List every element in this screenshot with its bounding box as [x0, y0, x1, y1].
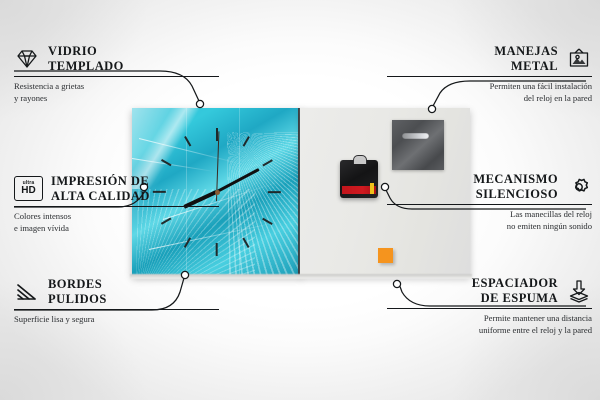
- callout-title-line-2: ALTA CALIDAD: [51, 189, 150, 204]
- hanger-slot: [402, 133, 429, 139]
- callout-vidrio-templado: VIDRIO TEMPLADO Resistencia a grietas y …: [14, 44, 219, 104]
- callout-title-line-2: SILENCIOSO: [473, 187, 558, 202]
- callout-description: Permite mantener una distancia uniforme …: [387, 313, 592, 335]
- callout-description: Permiten una fácil instalación del reloj…: [387, 81, 592, 103]
- movement-shaft: [353, 155, 367, 164]
- callout-rule: [14, 76, 219, 77]
- callout-description: Colores intensos e imagen vívida: [14, 211, 219, 233]
- callout-desc-line-2: no emiten ningún sonido: [387, 221, 592, 232]
- clock-tick-3: [217, 191, 281, 193]
- callout-desc-line-1: Superficie lisa y segura: [14, 314, 219, 325]
- clock-movement-mechanism: [340, 160, 378, 198]
- callout-title-line-1: ESPACIADOR: [472, 276, 558, 291]
- callout-rule: [14, 309, 219, 310]
- diamond-icon: [14, 47, 40, 71]
- callout-title-line-1: MECANISMO: [473, 172, 558, 187]
- callout-desc-line-2: y rayones: [14, 93, 219, 104]
- callout-description: Las manecillas del reloj no emiten ningú…: [387, 209, 592, 231]
- ultra-hd-icon: ultra HD: [14, 176, 43, 201]
- callout-title-line-1: IMPRESIÓN DE: [51, 174, 150, 189]
- callout-desc-line-2: e imagen vívida: [14, 223, 219, 234]
- callout-desc-line-1: Las manecillas del reloj: [387, 209, 592, 220]
- callout-rule: [14, 206, 219, 207]
- callout-desc-line-1: Resistencia a grietas: [14, 81, 219, 92]
- movement-label: [342, 186, 376, 194]
- callout-desc-line-1: Permite mantener una distancia: [387, 313, 592, 324]
- callout-manejas-metal: MANEJAS METAL Permiten una fácil instala…: [387, 44, 592, 104]
- ultra-hd-badge-main: HD: [21, 186, 35, 196]
- foam-spacer-pad: [378, 248, 393, 263]
- gear-icon: [566, 175, 592, 199]
- foam-spacer-icon: [566, 279, 592, 303]
- callout-bordes-pulidos: BORDES PULIDOS Superficie lisa y segura: [14, 277, 219, 326]
- callout-desc-line-1: Permiten una fácil instalación: [387, 81, 592, 92]
- callout-rule: [387, 308, 592, 309]
- callout-espaciador-espuma: ESPACIADOR DE ESPUMA Permite mantener un…: [387, 276, 592, 336]
- callout-impresion-alta-calidad: ultra HD IMPRESIÓN DE ALTA CALIDAD Color…: [14, 174, 219, 234]
- metal-hanger-plate: [392, 120, 444, 170]
- callout-title-line-2: METAL: [494, 59, 558, 74]
- callout-rule: [387, 76, 592, 77]
- callout-desc-line-2: del reloj en la pared: [387, 93, 592, 104]
- callout-desc-line-2: uniforme entre el reloj y la pared: [387, 325, 592, 336]
- callout-desc-line-1: Colores intensos: [14, 211, 219, 222]
- callout-title-line-1: MANEJAS: [494, 44, 558, 59]
- callout-description: Resistencia a grietas y rayones: [14, 81, 219, 103]
- callout-rule: [387, 204, 592, 205]
- callout-title-line-1: VIDRIO: [48, 44, 124, 59]
- callout-title-line-2: TEMPLADO: [48, 59, 124, 74]
- hanging-frame-icon: [566, 47, 592, 71]
- callout-title-line-1: BORDES: [48, 277, 107, 292]
- polished-edge-icon: [14, 280, 40, 304]
- callout-description: Superficie lisa y segura: [14, 314, 219, 325]
- callout-mecanismo-silencioso: MECANISMO SILENCIOSO Las manecillas del …: [387, 172, 592, 232]
- callout-title-line-2: DE ESPUMA: [472, 291, 558, 306]
- callout-title-line-2: PULIDOS: [48, 292, 107, 307]
- infographic-canvas: VIDRIO TEMPLADO Resistencia a grietas y …: [0, 0, 600, 400]
